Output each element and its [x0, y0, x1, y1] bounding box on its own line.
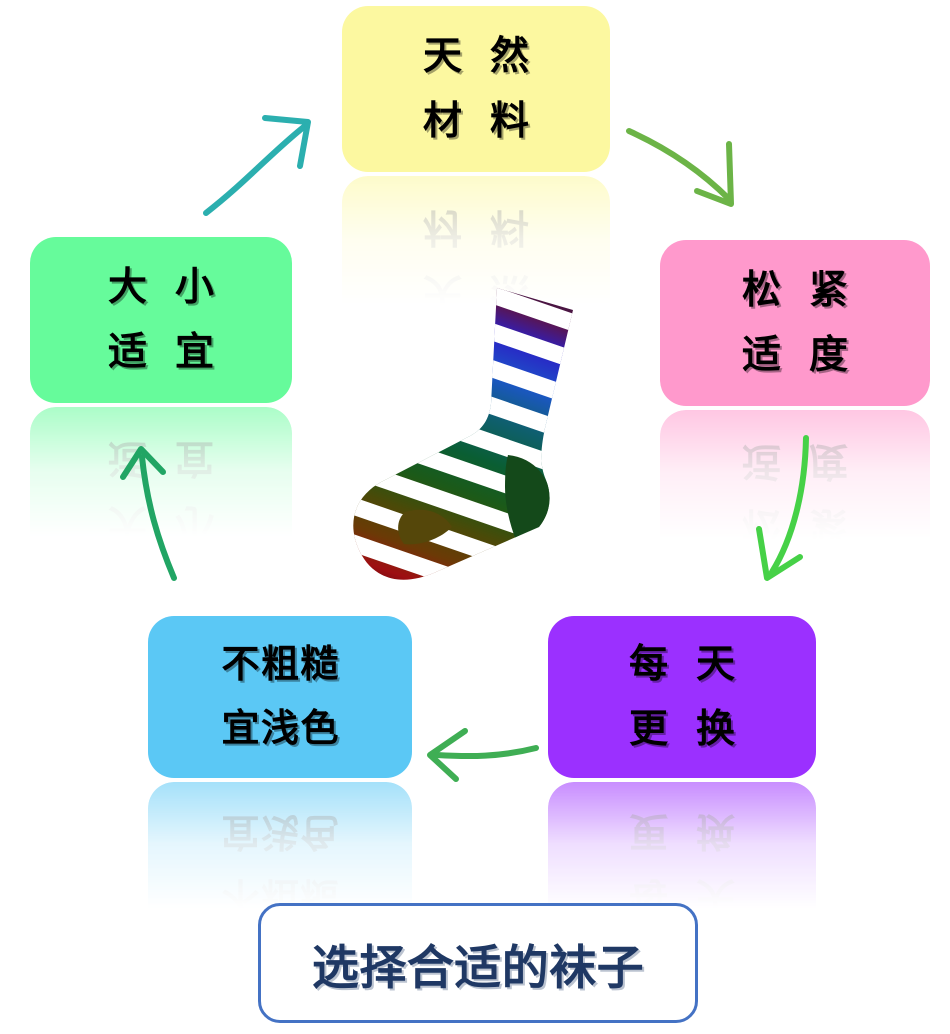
- node-label-line1: 天 然: [414, 37, 537, 76]
- diagram-title-box: 选择合适的袜子: [258, 903, 698, 1023]
- diagram-title: 选择合适的袜子: [312, 929, 644, 998]
- arrow-size-to-natural: [206, 118, 308, 213]
- node-label-line1: 不粗糙: [220, 646, 340, 684]
- node-label-line1: 大 小: [99, 268, 222, 307]
- arrow-elastic-to-daily: [759, 438, 806, 578]
- node-label-line1: 松 紧: [733, 271, 856, 310]
- node-label-line1: 每 天: [620, 645, 743, 684]
- node-proper-size[interactable]: 大 小 适 宜: [30, 237, 292, 403]
- arrow-texture-to-size: [123, 449, 174, 578]
- node-label-line2: 更 换: [620, 710, 743, 749]
- node-change-daily[interactable]: 每 天 更 换: [548, 616, 816, 778]
- node-natural-material[interactable]: 天 然 材 料: [342, 6, 610, 172]
- diagram-canvas: 天 然 材 料 松 紧 适 度 每 天 更 换 不粗糙 宜浅色 大 小 适 宜: [0, 0, 950, 1034]
- node-elasticity[interactable]: 松 紧 适 度: [660, 240, 930, 406]
- arrow-daily-to-texture: [430, 731, 536, 779]
- node-texture-color[interactable]: 不粗糙 宜浅色: [148, 616, 412, 778]
- node-label-line2: 适 度: [733, 336, 856, 375]
- node-label-line2: 宜浅色: [220, 710, 340, 748]
- arrow-natural-to-elastic: [629, 131, 731, 204]
- node-label-line2: 材 料: [414, 102, 537, 141]
- node-label-line2: 适 宜: [99, 333, 222, 372]
